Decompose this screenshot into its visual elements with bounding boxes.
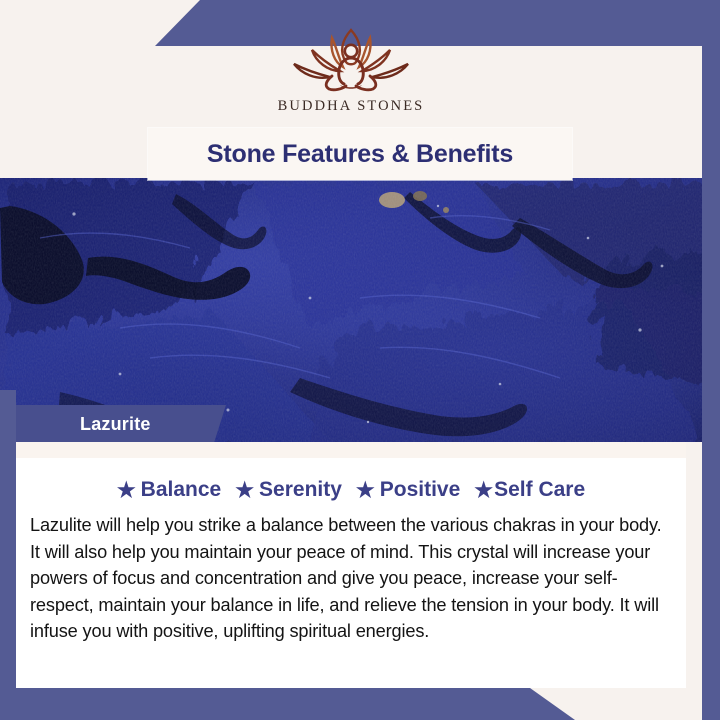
frame-bottom-accent [0,688,720,720]
page-title: Stone Features & Benefits [207,140,513,169]
benefit-item: ★ Balance [117,478,221,502]
stone-description-card: ★ Balance ★ Serenity ★ Positive ★ Self C… [16,442,686,688]
stone-name: Lazurite [14,414,151,435]
page-title-band: Stone Features & Benefits [148,128,572,180]
benefit-label: Balance [141,478,222,502]
benefit-label: Positive [380,478,461,502]
card-top-strip [16,442,686,458]
stone-info-card: BUDDHA STONES Stone Features & Benefits [0,0,720,720]
benefit-item: ★ Self Care [474,478,585,502]
star-icon: ★ [356,480,375,501]
stone-name-band: Lazurite [14,405,226,443]
stone-photo [0,178,702,442]
brand-name: BUDDHA STONES [278,98,425,115]
benefit-item: ★ Serenity [235,478,342,502]
benefits-list: ★ Balance ★ Serenity ★ Positive ★ Self C… [16,478,686,502]
frame-left-accent [0,390,16,720]
star-icon: ★ [474,480,493,501]
lazurite-texture [0,178,702,442]
star-icon: ★ [117,480,136,501]
lotus-meditation-icon [276,24,426,96]
benefit-label: Self Care [494,478,585,502]
benefit-label: Serenity [259,478,342,502]
brand-logo: BUDDHA STONES [0,24,702,124]
description-text: Lazulite will help you strike a balance … [16,512,686,645]
benefit-item: ★ Positive [356,478,460,502]
frame-right-accent [702,0,720,720]
star-icon: ★ [235,480,254,501]
